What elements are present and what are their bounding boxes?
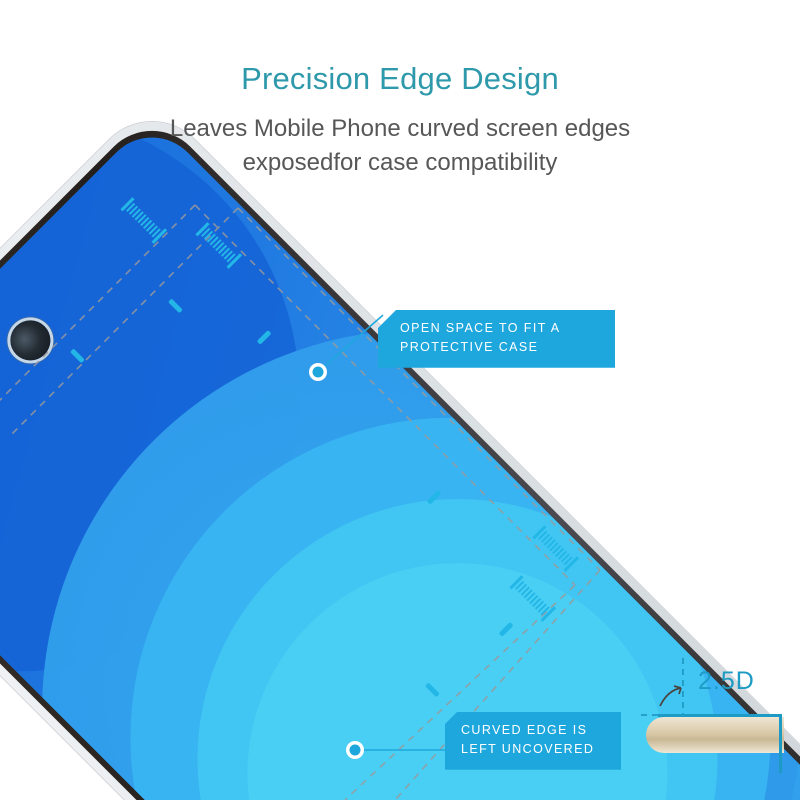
product-infographic: Precision Edge Design Leaves Mobile Phon… xyxy=(0,0,800,800)
page-title: Precision Edge Design xyxy=(0,0,800,97)
subtitle-line-1: Leaves Mobile Phone curved screen edges xyxy=(170,115,630,142)
edge-diagram-glass-cross-section xyxy=(646,717,784,753)
phone-illustration xyxy=(0,170,560,800)
edge-diagram-top-line xyxy=(658,714,782,717)
callout-open-space[interactable]: OPEN SPACE TO FIT A PROTECTIVE CASE xyxy=(378,310,615,368)
edge-diagram-right-line xyxy=(779,714,782,773)
edge-diagram: 2.5D xyxy=(640,655,800,800)
edge-diagram-label: 2.5D xyxy=(698,669,755,694)
callout-curved-edge[interactable]: CURVED EDGE IS LEFT UNCOVERED xyxy=(445,712,621,770)
page-subtitle: Leaves Mobile Phone curved screen edgese… xyxy=(0,97,800,180)
subtitle-line-2: exposedfor case compatibility xyxy=(243,149,558,176)
header: Precision Edge Design Leaves Mobile Phon… xyxy=(0,0,800,180)
